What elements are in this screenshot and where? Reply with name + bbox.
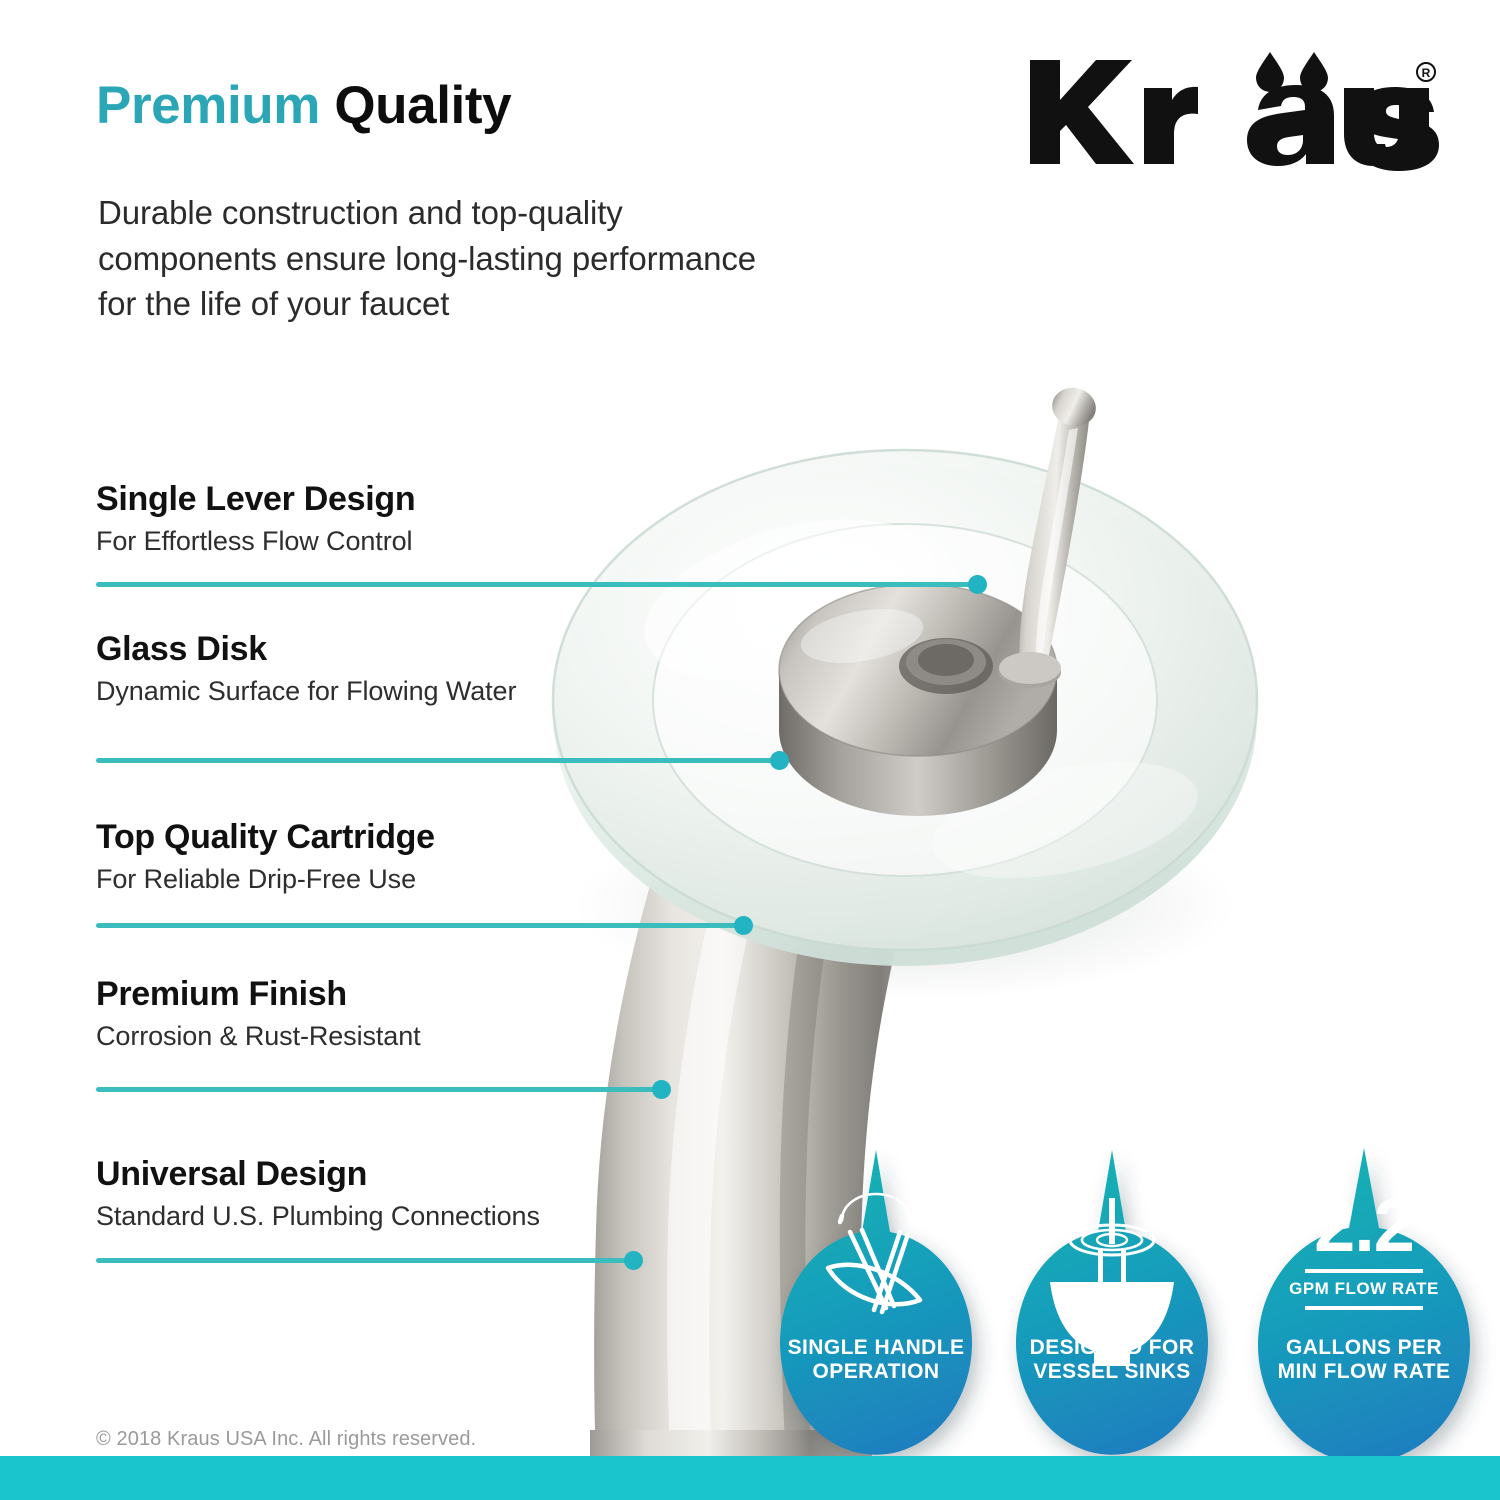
- feature-subtitle: Dynamic Surface for Flowing Water: [96, 675, 736, 707]
- page-title: Premium Quality: [96, 78, 511, 134]
- leader-dot-glass-disk: [770, 751, 789, 770]
- leader-line-single-lever-design: [96, 582, 980, 587]
- kraus-logo: R: [1022, 36, 1442, 176]
- page-title-accent: Premium: [96, 76, 320, 135]
- feature-badges: SINGLE HANDLE OPERATION: [770, 1140, 1482, 1430]
- divider-top: [1305, 1269, 1423, 1273]
- bottom-accent-bar: [0, 1456, 1500, 1500]
- leader-dot-universal-design: [624, 1251, 643, 1270]
- badge-label-line2: VESSEL SINKS: [1006, 1360, 1218, 1384]
- badge-label-line1: SINGLE HANDLE: [770, 1336, 982, 1360]
- lever-handle: [999, 384, 1099, 688]
- badge-flow-rate[interactable]: 2.2 GPM FLOW RATE GALLONS PER MIN FLOW R…: [1246, 1140, 1482, 1430]
- leader-line-top-quality-cartridge: [96, 923, 748, 928]
- page-title-plain: Quality: [334, 76, 511, 135]
- leader-dot-premium-finish: [652, 1080, 671, 1099]
- badge-label-line2: MIN FLOW RATE: [1246, 1360, 1482, 1384]
- feature-title: Glass Disk: [96, 630, 736, 668]
- leader-line-premium-finish: [96, 1087, 666, 1092]
- svg-text:R: R: [1422, 66, 1431, 80]
- leader-dot-top-quality-cartridge: [734, 916, 753, 935]
- page-subtitle: Durable construction and top-quality com…: [98, 190, 798, 327]
- feature-title: Top Quality Cartridge: [96, 818, 736, 856]
- feature-title: Premium Finish: [96, 975, 736, 1013]
- feature-title: Single Lever Design: [96, 480, 736, 518]
- feature-title: Universal Design: [96, 1155, 736, 1193]
- flow-rate-value: 2.2: [1246, 1192, 1482, 1260]
- badge-label-line2: OPERATION: [770, 1360, 982, 1384]
- feature-single-lever-design: Single Lever Design For Effortless Flow …: [96, 480, 736, 557]
- flow-rate-block: 2.2 GPM FLOW RATE: [1246, 1192, 1482, 1310]
- feature-subtitle: Corrosion & Rust-Resistant: [96, 1020, 736, 1052]
- feature-subtitle: For Reliable Drip-Free Use: [96, 863, 736, 895]
- feature-universal-design: Universal Design Standard U.S. Plumbing …: [96, 1155, 736, 1232]
- feature-top-quality-cartridge: Top Quality Cartridge For Reliable Drip-…: [96, 818, 736, 895]
- badge-label: DESIGNED FOR VESSEL SINKS: [1006, 1336, 1218, 1383]
- feature-premium-finish: Premium Finish Corrosion & Rust-Resistan…: [96, 975, 736, 1052]
- badge-designed-for-vessel-sinks[interactable]: DESIGNED FOR VESSEL SINKS: [1006, 1140, 1218, 1430]
- badge-label: SINGLE HANDLE OPERATION: [770, 1336, 982, 1383]
- leader-line-universal-design: [96, 1258, 638, 1263]
- faucet-hub: [779, 584, 1057, 756]
- divider-bottom: [1305, 1306, 1423, 1310]
- copyright-text: © 2018 Kraus USA Inc. All rights reserve…: [96, 1428, 476, 1451]
- feature-glass-disk: Glass Disk Dynamic Surface for Flowing W…: [96, 630, 736, 707]
- flow-rate-unit: GPM FLOW RATE: [1246, 1279, 1482, 1299]
- leader-dot-single-lever-design: [968, 575, 987, 594]
- badge-single-handle-operation[interactable]: SINGLE HANDLE OPERATION: [770, 1140, 982, 1430]
- leader-line-glass-disk: [96, 758, 784, 763]
- registered-trademark-icon: R: [1417, 63, 1435, 81]
- feature-subtitle: Standard U.S. Plumbing Connections: [96, 1200, 736, 1232]
- badge-label-line1: GALLONS PER: [1246, 1336, 1482, 1360]
- badge-label-line1: DESIGNED FOR: [1006, 1336, 1218, 1360]
- feature-subtitle: For Effortless Flow Control: [96, 525, 736, 557]
- infographic-canvas: Premium Quality Durable construction and…: [0, 0, 1500, 1500]
- badge-label: GALLONS PER MIN FLOW RATE: [1246, 1336, 1482, 1383]
